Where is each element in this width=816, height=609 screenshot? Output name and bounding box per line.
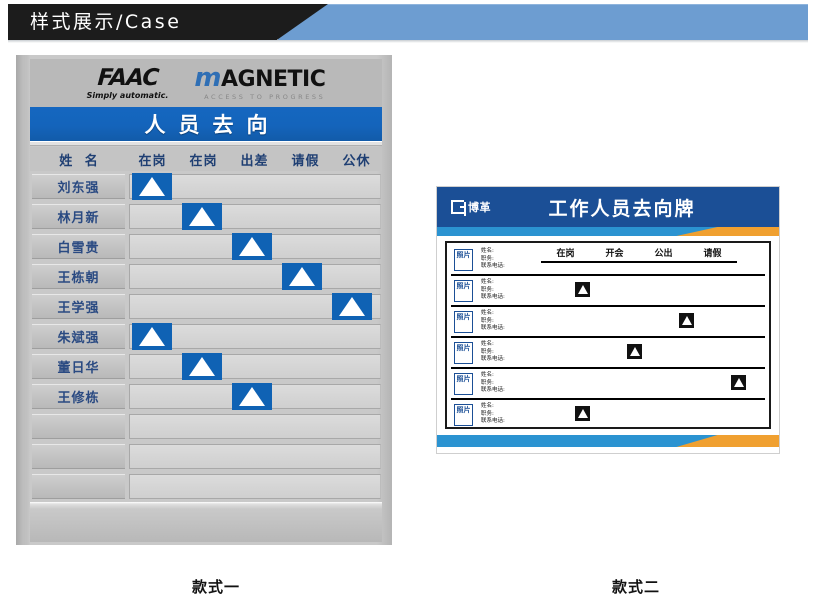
page-banner: 样式展示/Case: [8, 4, 808, 42]
photo-placeholder[interactable]: 照片: [454, 404, 473, 426]
board-one-column-headers: 姓 名 在岗 在岗 出差 请假 公休: [30, 147, 382, 171]
person-field-label: 联系电话:: [481, 387, 533, 395]
stripe-cyan-bottom: [437, 435, 779, 447]
row-status-track[interactable]: [129, 294, 381, 319]
row-status-track[interactable]: [129, 264, 381, 289]
table-row[interactable]: 照片姓名:职务:联系电话:: [451, 400, 765, 429]
table-row[interactable]: 照片姓名:职务:联系电话:: [451, 338, 765, 369]
status-marker[interactable]: [731, 375, 746, 390]
table-row[interactable]: [30, 442, 382, 471]
boge-logo-text: 博革: [468, 199, 491, 215]
row-name-cell: 王学强: [32, 294, 125, 319]
row-status-track[interactable]: [541, 245, 757, 274]
row-status-track[interactable]: [129, 324, 381, 349]
board-two-stripe-bottom: [437, 435, 779, 447]
table-row[interactable]: 照片姓名:职务:联系电话:: [451, 369, 765, 400]
magnetic-logo-m: m: [194, 63, 221, 93]
column-header-business-trip: 出差: [229, 150, 280, 169]
boge-logo-icon: [451, 200, 464, 214]
person-fields: 姓名:职务:联系电话:: [481, 341, 533, 364]
row-name-cell: 白雪贵: [32, 234, 125, 259]
table-row[interactable]: 林月新: [30, 202, 382, 231]
triangle-icon: [139, 327, 165, 346]
photo-placeholder[interactable]: 照片: [454, 342, 473, 364]
table-row[interactable]: 朱斌强: [30, 322, 382, 351]
column-header-leave: 请假: [280, 150, 331, 169]
magnetic-logo: mAGNETIC ACCESS TO PROGRESS: [194, 65, 325, 101]
faac-logo-tagline: Simply automatic.: [87, 92, 169, 100]
row-name-cell: 朱斌强: [32, 324, 125, 349]
magnetic-logo-tagline: ACCESS TO PROGRESS: [194, 94, 325, 101]
person-fields: 姓名:职务:联系电话:: [481, 248, 533, 271]
board-two-header: 博革 工作人员去向牌: [437, 187, 779, 227]
status-marker[interactable]: [627, 344, 642, 359]
person-field-label: 联系电话:: [481, 294, 533, 302]
person-fields: 姓名:职务:联系电话:: [481, 403, 533, 426]
triangle-icon: [339, 297, 365, 316]
row-status-track[interactable]: [129, 234, 381, 259]
row-name-cell: 王栋朝: [32, 264, 125, 289]
table-row[interactable]: [30, 472, 382, 501]
status-marker[interactable]: [182, 203, 222, 230]
caption-style-one: 款式一: [192, 576, 240, 597]
triangle-icon: [630, 347, 640, 356]
board-two-stripe-top: [437, 227, 779, 236]
table-row[interactable]: 照片姓名:职务:联系电话:在岗开会公出请假: [451, 245, 765, 276]
status-marker[interactable]: [282, 263, 322, 290]
row-name-cell: [32, 414, 125, 439]
board-two: 博革 工作人员去向牌 照片姓名:职务:联系电话:在岗开会公出请假照片姓名:职务:…: [436, 186, 780, 454]
row-status-track[interactable]: [541, 369, 757, 398]
row-status-track[interactable]: [541, 400, 757, 429]
person-field-label: 姓名:: [481, 248, 533, 256]
table-row[interactable]: [30, 412, 382, 441]
table-row[interactable]: 王栋朝: [30, 262, 382, 291]
photo-placeholder[interactable]: 照片: [454, 373, 473, 395]
person-fields: 姓名:职务:联系电话:: [481, 372, 533, 395]
stripe-cyan-top: [437, 227, 779, 236]
boge-logo: 博革: [451, 199, 491, 215]
person-field-label: 联系电话:: [481, 418, 533, 426]
status-marker[interactable]: [679, 313, 694, 328]
board-one-divider: [30, 141, 382, 146]
caption-style-two: 款式二: [612, 576, 660, 597]
person-field-label: 姓名:: [481, 310, 533, 318]
photo-placeholder[interactable]: 照片: [454, 280, 473, 302]
column-header-name: 姓 名: [30, 150, 127, 169]
row-name-cell: 刘东强: [32, 174, 125, 199]
status-marker[interactable]: [232, 233, 272, 260]
table-row[interactable]: 白雪贵: [30, 232, 382, 261]
faac-logo-main: FAAC: [86, 67, 169, 90]
person-field-label: 姓名:: [481, 403, 533, 411]
row-status-track[interactable]: [129, 474, 381, 499]
row-name-cell: 王修栋: [32, 384, 125, 409]
person-field-label: 姓名:: [481, 341, 533, 349]
table-row[interactable]: 照片姓名:职务:联系电话:: [451, 307, 765, 338]
column-header-onduty-2: 在岗: [178, 150, 229, 169]
status-marker[interactable]: [575, 282, 590, 297]
person-field-label: 联系电话:: [481, 325, 533, 333]
table-row[interactable]: 董日华: [30, 352, 382, 381]
row-status-track[interactable]: [129, 444, 381, 469]
row-status-track[interactable]: [129, 174, 381, 199]
row-status-track[interactable]: [541, 276, 757, 305]
person-field-label: 联系电话:: [481, 263, 533, 271]
row-status-track[interactable]: [541, 307, 757, 336]
status-marker[interactable]: [182, 353, 222, 380]
table-row[interactable]: 照片姓名:职务:联系电话:: [451, 276, 765, 307]
person-field-label: 姓名:: [481, 372, 533, 380]
row-name-cell: [32, 444, 125, 469]
triangle-icon: [578, 285, 588, 294]
status-marker[interactable]: [332, 293, 372, 320]
table-row[interactable]: 王学强: [30, 292, 382, 321]
column-header-onduty-1: 在岗: [127, 150, 178, 169]
board-two-title: 工作人员去向牌: [491, 194, 753, 221]
status-marker[interactable]: [132, 323, 172, 350]
row-status-track[interactable]: [129, 354, 381, 379]
magnetic-logo-main: mAGNETIC: [194, 65, 325, 91]
person-fields: 姓名:职务:联系电话:: [481, 310, 533, 333]
triangle-icon: [189, 207, 215, 226]
triangle-icon: [682, 316, 692, 325]
table-row[interactable]: 王修栋: [30, 382, 382, 411]
table-row[interactable]: 刘东强: [30, 172, 382, 201]
row-name-cell: [32, 474, 125, 499]
triangle-icon: [239, 237, 265, 256]
status-marker[interactable]: [232, 383, 272, 410]
row-status-track[interactable]: [129, 204, 381, 229]
triangle-icon: [239, 387, 265, 406]
person-field-label: 联系电话:: [481, 356, 533, 364]
triangle-icon: [139, 177, 165, 196]
person-fields: 姓名:职务:联系电话:: [481, 279, 533, 302]
banner-blue-bar: [278, 4, 808, 40]
board-one-inner: FAAC Simply automatic. mAGNETIC ACCESS T…: [30, 55, 382, 545]
status-marker[interactable]: [132, 173, 172, 200]
board-one-title: 人员去向: [30, 107, 382, 141]
row-status-track[interactable]: [541, 338, 757, 367]
triangle-icon: [578, 409, 588, 418]
row-name-cell: 董日华: [32, 354, 125, 379]
photo-placeholder[interactable]: 照片: [454, 249, 473, 271]
page-title: 样式展示/Case: [30, 4, 181, 40]
board-one: FAAC Simply automatic. mAGNETIC ACCESS T…: [16, 55, 392, 545]
board-one-footer: [30, 502, 382, 542]
row-name-cell: 林月新: [32, 204, 125, 229]
board-one-row-list: 刘东强林月新白雪贵王栋朝王学强朱斌强董日华王修栋: [30, 172, 382, 532]
column-header-dayoff: 公休: [331, 150, 382, 169]
triangle-icon: [734, 378, 744, 387]
row-status-track[interactable]: [129, 414, 381, 439]
board-one-logo-strip: FAAC Simply automatic. mAGNETIC ACCESS T…: [30, 59, 382, 107]
banner-shadow: [8, 40, 808, 43]
status-marker[interactable]: [575, 406, 590, 421]
board-two-row-list: 照片姓名:职务:联系电话:在岗开会公出请假照片姓名:职务:联系电话:照片姓名:职…: [445, 241, 771, 429]
photo-placeholder[interactable]: 照片: [454, 311, 473, 333]
faac-logo: FAAC Simply automatic.: [87, 67, 169, 100]
triangle-icon: [189, 357, 215, 376]
row-status-track[interactable]: [129, 384, 381, 409]
triangle-icon: [289, 267, 315, 286]
person-field-label: 姓名:: [481, 279, 533, 287]
magnetic-logo-rest: AGNETIC: [221, 67, 325, 92]
